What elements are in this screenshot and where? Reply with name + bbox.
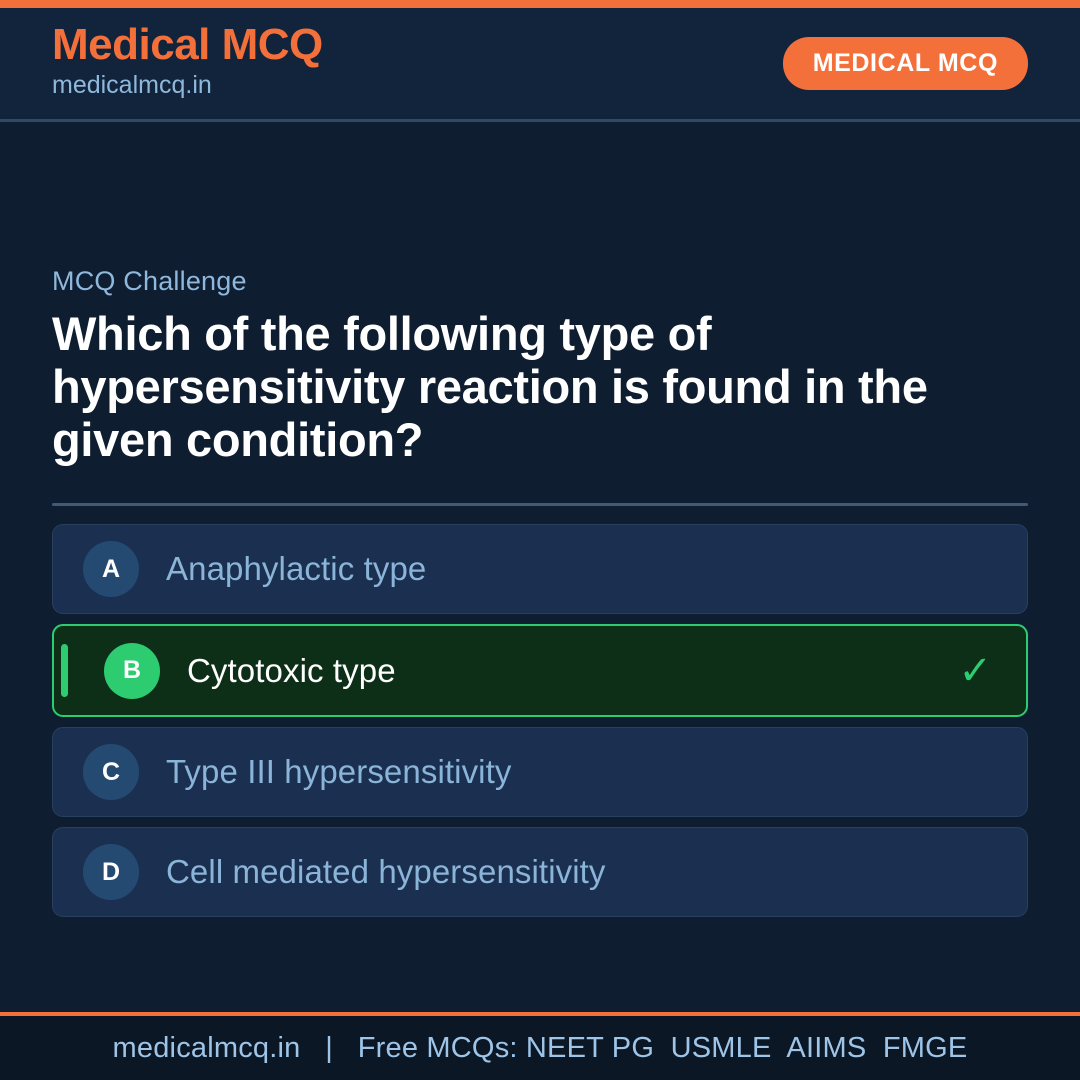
top-accent-bar bbox=[0, 0, 1080, 8]
brand-title: Medical MCQ bbox=[52, 22, 323, 68]
correct-accent-bar bbox=[61, 644, 68, 697]
question-divider bbox=[52, 503, 1028, 506]
option-letter-b: B bbox=[104, 643, 160, 699]
option-text-c: Type III hypersensitivity bbox=[166, 753, 511, 791]
options-list: A Anaphylactic type ✓ B Cytotoxic type ✓… bbox=[52, 524, 1028, 917]
header-badge: MEDICAL MCQ bbox=[783, 37, 1028, 90]
option-a[interactable]: A Anaphylactic type ✓ bbox=[52, 524, 1028, 614]
question-text: Which of the following type of hypersens… bbox=[52, 307, 1028, 466]
option-b[interactable]: B Cytotoxic type ✓ bbox=[52, 624, 1028, 717]
check-icon: ✓ bbox=[958, 651, 992, 691]
option-letter-c: C bbox=[83, 744, 139, 800]
question-kicker: MCQ Challenge bbox=[52, 266, 1028, 297]
question-zone: MCQ Challenge Which of the following typ… bbox=[52, 122, 1028, 506]
footer-text: medicalmcq.in | Free MCQs: NEET PG USMLE… bbox=[113, 1032, 968, 1065]
option-text-b: Cytotoxic type bbox=[187, 652, 396, 690]
page-header: Medical MCQ medicalmcq.in MEDICAL MCQ bbox=[0, 8, 1080, 122]
option-letter-d: D bbox=[83, 844, 139, 900]
option-text-d: Cell mediated hypersensitivity bbox=[166, 853, 606, 891]
option-d[interactable]: D Cell mediated hypersensitivity ✓ bbox=[52, 827, 1028, 917]
option-text-a: Anaphylactic type bbox=[166, 550, 426, 588]
main-content: MCQ Challenge Which of the following typ… bbox=[0, 122, 1080, 1012]
option-letter-a: A bbox=[83, 541, 139, 597]
page-footer: medicalmcq.in | Free MCQs: NEET PG USMLE… bbox=[0, 1012, 1080, 1080]
option-c[interactable]: C Type III hypersensitivity ✓ bbox=[52, 727, 1028, 817]
brand-subtitle: medicalmcq.in bbox=[52, 70, 323, 101]
brand-block: Medical MCQ medicalmcq.in bbox=[52, 22, 323, 105]
